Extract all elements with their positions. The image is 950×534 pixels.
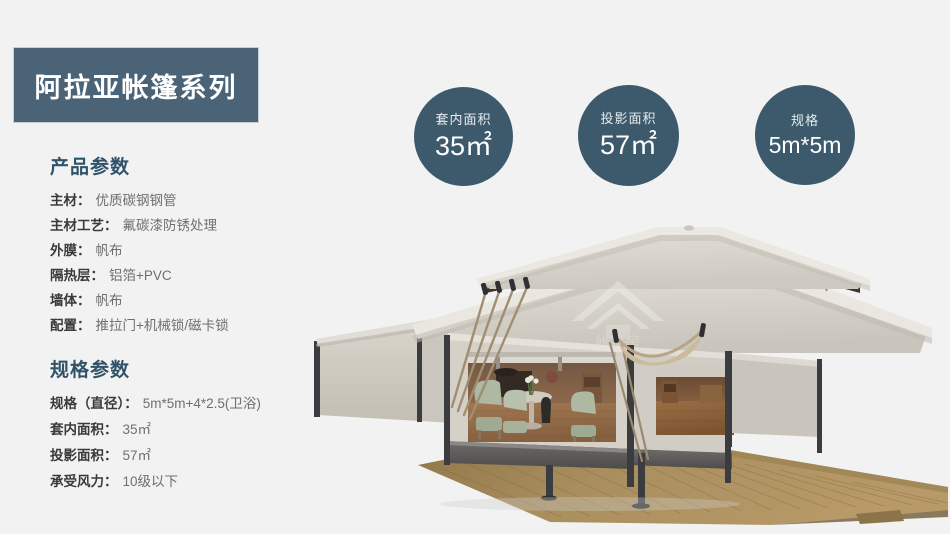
spec-value: 5m*5m+4*2.5(卫浴) xyxy=(143,391,261,417)
stat-badge-value: 35㎡ xyxy=(435,133,492,160)
right-canvas-wing xyxy=(727,351,822,453)
tent-product-image: 帐篷房 xyxy=(300,225,950,525)
spec-value: 帆布 xyxy=(96,238,123,263)
spec-label: 套内面积： xyxy=(50,417,118,443)
interior-view xyxy=(446,333,632,469)
stat-badge-interior-area: 套内面积 35㎡ xyxy=(414,87,513,186)
spec-label: 主材： xyxy=(50,188,91,213)
spec-label: 墙体： xyxy=(50,288,91,313)
stat-badge-dimensions: 规格 5m*5m xyxy=(755,85,855,185)
spec-label: 主材工艺： xyxy=(50,213,118,238)
spec-value: 优质碳钢钢管 xyxy=(96,188,177,213)
spec-label: 投影面积： xyxy=(50,443,118,469)
stat-badge-value: 57㎡ xyxy=(600,132,657,159)
spec-value: 帆布 xyxy=(96,288,123,313)
spec-value: 铝箔+PVC xyxy=(109,263,172,288)
spec-label: 隔热层： xyxy=(50,263,104,288)
upper-roof-tier xyxy=(476,225,870,293)
series-title-banner: 阿拉亚帐篷系列 xyxy=(14,48,258,122)
spec-value: 推拉门+机械锁/磁卡锁 xyxy=(96,313,229,338)
spec-value: 10级以下 xyxy=(123,469,179,495)
spec-value: 57㎡ xyxy=(123,443,152,469)
spec-label: 承受风力： xyxy=(50,469,118,495)
spec-value: 35㎡ xyxy=(123,417,152,443)
spec-label: 规格（直径）： xyxy=(50,391,138,417)
spec-label: 外膜： xyxy=(50,238,91,263)
spec-value: 氟碳漆防锈处理 xyxy=(123,213,218,238)
spec-label: 配置： xyxy=(50,313,91,338)
product-parameters-heading: 产品参数 xyxy=(50,152,350,179)
stat-badge-label: 投影面积 xyxy=(600,112,656,125)
stat-badge-projected-area: 投影面积 57㎡ xyxy=(578,85,679,186)
stat-badge-value: 5m*5m xyxy=(769,134,842,157)
page-root: 阿拉亚帐篷系列 产品参数 主材： 优质碳钢钢管 主材工艺： 氟碳漆防锈处理 外膜… xyxy=(0,0,950,534)
stat-badge-label: 套内面积 xyxy=(435,113,491,126)
spec-row: 主材： 优质碳钢钢管 xyxy=(50,188,350,213)
stat-badge-label: 规格 xyxy=(791,114,819,127)
series-title-text: 阿拉亚帐篷系列 xyxy=(35,66,238,105)
